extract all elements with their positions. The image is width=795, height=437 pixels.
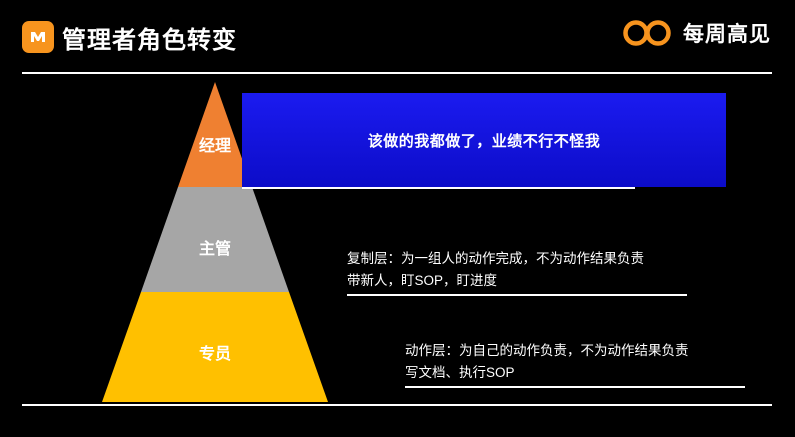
orange-rounded-square-logo-icon: [22, 21, 54, 53]
page-title: 管理者角色转变: [62, 20, 237, 55]
callout-bottom-line-1: 动作层：为自己的动作负责，不为动作结果负责: [405, 340, 765, 362]
callout-middle-underline: [347, 294, 687, 296]
callout-top-box: 该做的我都做了，业绩不行不怪我: [242, 93, 726, 187]
infinity-icon: [621, 18, 673, 48]
callout-bottom: 动作层：为自己的动作负责，不为动作结果负责 写文档、执行SOP: [405, 340, 765, 384]
callout-middle: 复制层：为一组人的动作完成，不为动作结果负责 带新人，盯SOP，盯进度: [347, 248, 707, 292]
callout-middle-line-2: 带新人，盯SOP，盯进度: [347, 270, 707, 292]
slide-header: 管理者角色转变 每周高见: [0, 0, 795, 72]
callout-bottom-underline: [405, 386, 745, 388]
footer-divider: [22, 404, 772, 406]
callout-middle-line-1: 复制层：为一组人的动作完成，不为动作结果负责: [347, 248, 707, 270]
pyramid-tier-middle-label: 主管: [100, 235, 330, 259]
header-divider: [22, 72, 772, 74]
brand-text: 每周高见: [683, 18, 771, 48]
callout-top-underline: [242, 187, 635, 189]
brand-group: 每周高见: [621, 18, 771, 48]
callout-bottom-line-2: 写文档、执行SOP: [405, 362, 765, 384]
callout-top-text: 该做的我都做了，业绩不行不怪我: [368, 130, 601, 151]
pyramid-tier-bottom-label: 专员: [100, 340, 330, 364]
